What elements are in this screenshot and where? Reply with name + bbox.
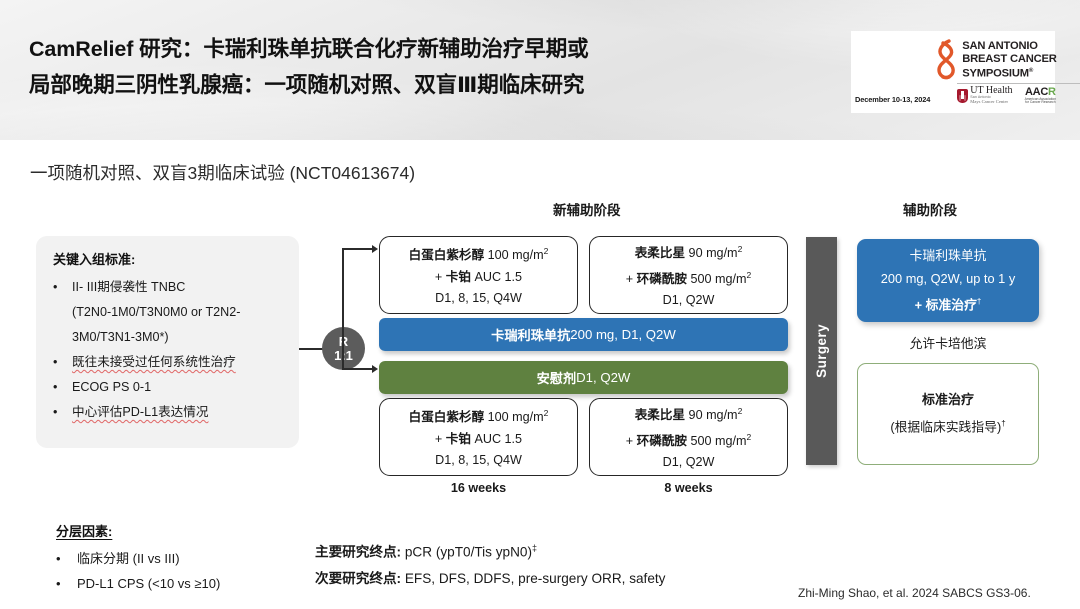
treatment-bar-placebo: 安慰剂 D1, Q2W	[379, 361, 788, 394]
eligibility-item-1: 既往未接受过任何系统性治疗	[72, 350, 285, 375]
treatment-bar-drug: 卡瑞利珠单抗	[491, 325, 570, 344]
study-subtitle: 一项随机对照、双盲3期临床试验 (NCT04613674)	[30, 160, 415, 185]
chemo-drug-line-2: + 卡铂 AUC 1.5	[435, 267, 522, 288]
chemo-drug-line-2: + 环磷酰胺 500 mg/m2	[626, 427, 751, 452]
bullet-icon: •	[56, 571, 77, 596]
treatment-bar-camrelizumab: 卡瑞利珠单抗 200 mg, D1, Q2W	[379, 318, 788, 351]
logo-name-line-1: SAN ANTONIO	[962, 40, 1056, 52]
duration-label-anthracycline: 8 weeks	[589, 481, 788, 495]
stratification-item-0: 临床分期 (II vs III)	[77, 546, 180, 571]
ut-health-text: UT Health San Antonio Mays Cancer Center	[970, 86, 1012, 104]
study-endpoints: 主要研究终点: pCR (ypT0/Tis ypN0)‡ 次要研究终点: EFS…	[315, 535, 665, 592]
chemo-drug-line-1: 白蛋白紫杉醇 100 mg/m2	[409, 403, 549, 428]
surgery-label: Surgery	[814, 324, 829, 378]
aacr-logo: AACR American Association for Cancer Res…	[1025, 87, 1057, 105]
ut-shield-icon	[957, 89, 968, 103]
list-item: • 中心评估PD-L1表达情况	[53, 400, 285, 425]
logo-wordmark: SAN ANTONIO BREAST CANCER SYMPOSIUM®	[959, 40, 1056, 80]
primary-endpoint-row: 主要研究终点: pCR (ypT0/Tis ypN0)‡	[315, 535, 665, 566]
adjuvant-box-camrelizumab: 卡瑞利珠单抗 200 mg, Q2W, up to 1 y + 标准治疗†	[857, 239, 1039, 322]
bullet-icon: •	[53, 400, 72, 425]
ut-health-logo: UT Health San Antonio Mays Cancer Center	[957, 86, 1012, 104]
list-item: • PD-L1 CPS (<10 vs ≥10)	[56, 571, 220, 596]
treatment-bar-detail: D1, Q2W	[576, 370, 630, 385]
ut-health-sub2: Mays Cancer Center	[970, 100, 1012, 105]
logo-divider	[957, 83, 1080, 84]
logo-date: December 10-13, 2024	[855, 95, 930, 109]
adjuvant-dose: 200 mg, Q2W, up to 1 y	[881, 267, 1015, 290]
bullet-icon: •	[53, 350, 72, 375]
title-line-1: CamRelief 研究：卡瑞利珠单抗联合化疗新辅助治疗早期或	[29, 31, 829, 67]
logo-name-line-3: SYMPOSIUM®	[962, 65, 1056, 80]
chemo-drug-line-1: 表柔比星 90 mg/m2	[635, 239, 743, 264]
primary-endpoint-label: 主要研究终点:	[315, 545, 401, 560]
adjuvant-drug: 卡瑞利珠单抗	[910, 244, 987, 267]
title-line-2: 局部晚期三阴性乳腺癌：一项随机对照、双盲Ⅲ期临床研究	[29, 67, 829, 103]
chemo-schedule: D1, 8, 15, Q4W	[435, 288, 522, 309]
bullet-icon: •	[53, 275, 72, 350]
connector-line-input	[299, 348, 324, 350]
logo-partner-row: UT Health San Antonio Mays Cancer Center…	[933, 86, 1056, 104]
list-item: • ECOG PS 0-1	[53, 375, 285, 400]
arrow-icon-arm-b	[372, 365, 378, 373]
chemo-box-anthracycline-arm-b: 表柔比星 90 mg/m2 + 环磷酰胺 500 mg/m2 D1, Q2W	[589, 398, 788, 476]
chemo-drug-line-1: 白蛋白紫杉醇 100 mg/m2	[409, 241, 549, 266]
adjuvant-box-standard-care: 标准治疗 (根据临床实践指导)†	[857, 363, 1039, 465]
connector-line-vertical	[342, 248, 344, 370]
surgery-bar: Surgery	[806, 237, 837, 465]
eligibility-item-3: 中心评估PD-L1表达情况	[72, 400, 285, 425]
eligibility-list: • II- III期侵袭性 TNBC (T2N0-1M0/T3N0M0 or T…	[53, 275, 285, 425]
chemo-schedule: D1, Q2W	[663, 452, 715, 473]
chemo-box-taxane-arm-b: 白蛋白紫杉醇 100 mg/m2 + 卡铂 AUC 1.5 D1, 8, 15,…	[379, 398, 578, 476]
connector-line-arm-a	[342, 248, 373, 250]
treatment-bar-drug: 安慰剂	[537, 368, 577, 387]
sabcs-ribbon-icon	[933, 39, 959, 81]
stratification-item-1: PD-L1 CPS (<10 vs ≥10)	[77, 571, 220, 596]
eligibility-item-0: II- III期侵袭性 TNBC (T2N0-1M0/T3N0M0 or T2N…	[72, 275, 285, 350]
chemo-drug-line-2: + 环磷酰胺 500 mg/m2	[626, 265, 751, 290]
aacr-sub2: for Cancer Research	[1025, 101, 1057, 104]
adjuvant-soc-detail: (根据临床实践指导)†	[890, 412, 1005, 439]
connector-line-arm-b	[342, 368, 373, 370]
chemo-box-taxane-arm-a: 白蛋白紫杉醇 100 mg/m2 + 卡铂 AUC 1.5 D1, 8, 15,…	[379, 236, 578, 314]
arrow-icon-arm-a	[372, 245, 378, 253]
stratification-title: 分层因素:	[56, 521, 220, 540]
list-item: • II- III期侵袭性 TNBC (T2N0-1M0/T3N0M0 or T…	[53, 275, 285, 350]
bullet-icon: •	[53, 375, 72, 400]
chemo-schedule: D1, Q2W	[663, 290, 715, 311]
list-item: • 既往未接受过任何系统性治疗	[53, 350, 285, 375]
chemo-drug-line-2: + 卡铂 AUC 1.5	[435, 429, 522, 450]
chemo-schedule: D1, 8, 15, Q4W	[435, 450, 522, 471]
chemo-box-anthracycline-arm-a: 表柔比星 90 mg/m2 + 环磷酰胺 500 mg/m2 D1, Q2W	[589, 236, 788, 314]
secondary-endpoint-row: 次要研究终点: EFS, DFS, DDFS, pre-surgery ORR,…	[315, 566, 665, 592]
slide-header: CamRelief 研究：卡瑞利珠单抗联合化疗新辅助治疗早期或 局部晚期三阴性乳…	[0, 0, 1080, 140]
adjuvant-capecitabine-note: 允许卡培他滨	[857, 333, 1039, 352]
logo-name-line-2: BREAST CANCER	[962, 53, 1056, 65]
adjuvant-soc-title: 标准治疗	[922, 388, 974, 412]
secondary-endpoint-value: EFS, DFS, DDFS, pre-surgery ORR, safety	[401, 571, 665, 586]
phase-label-neoadjuvant: 新辅助阶段	[553, 199, 621, 219]
phase-label-adjuvant: 辅助阶段	[903, 199, 957, 219]
list-item: • 临床分期 (II vs III)	[56, 546, 220, 571]
duration-label-taxane: 16 weeks	[379, 481, 578, 495]
chemo-drug-line-1: 表柔比星 90 mg/m2	[635, 401, 743, 426]
sabcs-logo: December 10-13, 2024 SAN ANTONIO BREAST …	[851, 31, 1055, 113]
adjuvant-plus-soc: + 标准治疗†	[915, 290, 982, 316]
stratification-factors: 分层因素: • 临床分期 (II vs III) • PD-L1 CPS (<1…	[56, 521, 220, 596]
treatment-bar-detail: 200 mg, D1, Q2W	[570, 327, 676, 342]
primary-endpoint-value: pCR (ypT0/Tis ypN0)	[401, 545, 532, 560]
eligibility-criteria-box: 关键入组标准: • II- III期侵袭性 TNBC (T2N0-1M0/T3N…	[36, 236, 299, 448]
eligibility-title: 关键入组标准:	[53, 249, 285, 268]
logo-content: SAN ANTONIO BREAST CANCER SYMPOSIUM® UT …	[930, 39, 1080, 104]
citation: Zhi-Ming Shao, et al. 2024 SABCS GS3-06.	[798, 586, 1031, 600]
logo-top-row: SAN ANTONIO BREAST CANCER SYMPOSIUM®	[933, 39, 1056, 81]
bullet-icon: •	[56, 546, 77, 571]
secondary-endpoint-label: 次要研究终点:	[315, 571, 401, 586]
page-title: CamRelief 研究：卡瑞利珠单抗联合化疗新辅助治疗早期或 局部晚期三阴性乳…	[29, 31, 829, 103]
eligibility-item-2: ECOG PS 0-1	[72, 375, 285, 400]
